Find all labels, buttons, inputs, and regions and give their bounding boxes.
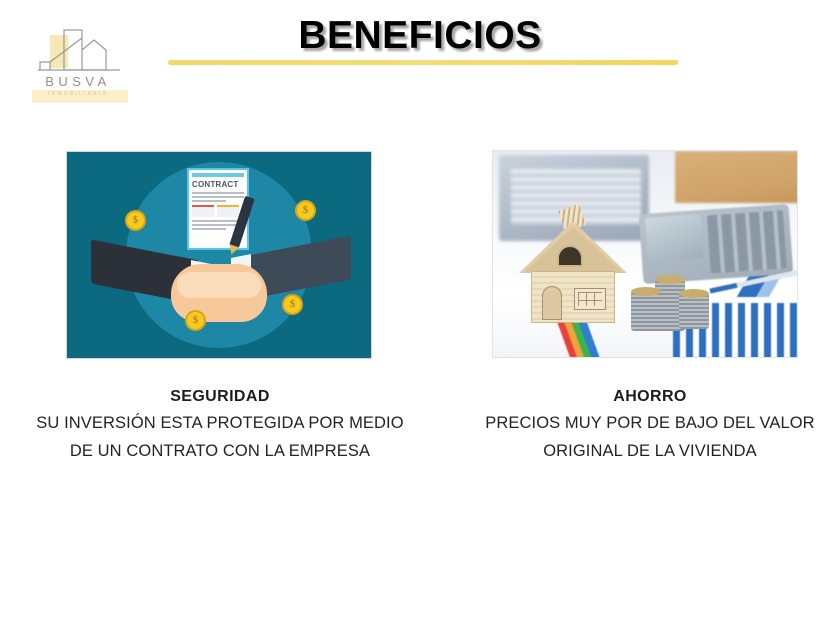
coin-stack-top [655, 275, 685, 284]
contract-text-line [192, 196, 244, 198]
benefit-description: SU INVERSIÓN ESTA PROTEGIDA POR MEDIO DE… [30, 409, 410, 465]
coin-stack-top [679, 289, 709, 298]
house-window [574, 288, 606, 310]
house-body [531, 271, 615, 323]
contract-title: CONTRACT [192, 180, 244, 189]
logo-tagline: INMOBILIARIA [24, 91, 132, 97]
wood-surface-object [675, 151, 798, 203]
benefit-caption-ahorro: AHORRO PRECIOS MUY POR DE BAJO DEL VALOR… [460, 388, 840, 465]
house-attic-window [557, 245, 583, 267]
benefit-caption-seguridad: SEGURIDAD SU INVERSIÓN ESTA PROTEGIDA PO… [30, 388, 410, 465]
house-door [542, 286, 562, 320]
benefit-heading: AHORRO [460, 388, 840, 406]
benefit-image-seguridad: CONTRACT $ $ $ $ [66, 151, 372, 359]
coin-icon: $ [282, 294, 303, 315]
handshake-hands [171, 264, 267, 322]
coin-icon: $ [125, 210, 146, 231]
contract-text-line [192, 200, 226, 202]
coin-icon: $ [185, 310, 206, 331]
contract-field [192, 205, 214, 217]
benefit-heading: SEGURIDAD [30, 388, 410, 406]
contract-header-bar [192, 173, 244, 177]
coin-stacks-object [631, 273, 705, 325]
contract-text-line [192, 228, 226, 230]
contract-text-line [192, 192, 244, 194]
benefit-image-ahorro [492, 150, 798, 358]
logo-name: BUSVA [24, 74, 132, 89]
coin-stack [679, 293, 709, 329]
coin-icon: $ [295, 200, 316, 221]
model-house-object [519, 207, 627, 325]
benefit-description: PRECIOS MUY POR DE BAJO DEL VALOR ORIGIN… [460, 409, 840, 465]
coin-stack-top [631, 287, 661, 296]
contract-fields [192, 205, 244, 217]
contract-field [217, 205, 239, 217]
page-title: BENEFICIOS [0, 14, 840, 58]
title-underline-rule [168, 60, 678, 65]
